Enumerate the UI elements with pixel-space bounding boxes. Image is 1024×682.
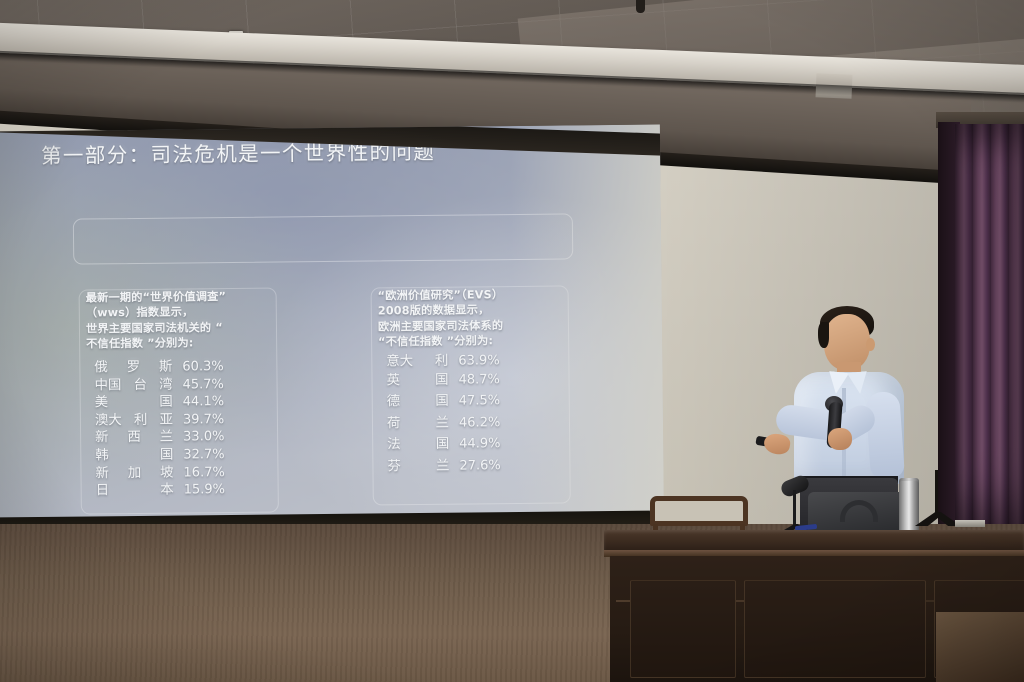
screen-right-falloff bbox=[510, 124, 664, 530]
desk-top-surface bbox=[604, 530, 1024, 552]
presenter-right-arm bbox=[865, 391, 905, 479]
value-label: 44.1% bbox=[173, 394, 224, 410]
chair-backrest bbox=[650, 496, 748, 526]
stage-curtain bbox=[955, 124, 1024, 546]
slide-title-box bbox=[73, 213, 573, 264]
value-label: 46.2% bbox=[449, 415, 500, 431]
presenter-left-hand bbox=[762, 432, 791, 456]
value-label: 63.9% bbox=[448, 353, 499, 369]
value-label: 48.7% bbox=[448, 372, 499, 388]
value-label: 60.3% bbox=[172, 359, 223, 375]
value-label: 27.6% bbox=[449, 458, 500, 474]
ceiling-clip-icon bbox=[636, 0, 645, 13]
country-label: 德国 bbox=[387, 389, 449, 410]
lecture-hall-scene: 第一部分：司法危机是一个世界性的问题 最新一期的“世界价值调查” （wws）指数… bbox=[0, 0, 1024, 682]
country-label: 意大利 bbox=[386, 349, 448, 370]
microphone-stem bbox=[793, 490, 796, 526]
microphone-stem bbox=[935, 470, 938, 518]
screen-left-falloff bbox=[0, 131, 82, 536]
left-column-rows: 俄罗斯 60.3% 中国台湾 45.7% 美国 44.1% 澳大利亚 39.7%… bbox=[94, 353, 280, 496]
desk-panel bbox=[744, 580, 926, 678]
value-label: 39.7% bbox=[173, 412, 224, 428]
country-label: 荷兰 bbox=[387, 410, 449, 431]
country-label: 日本 bbox=[96, 478, 174, 499]
value-label: 45.7% bbox=[172, 377, 223, 393]
presenter-right-hand bbox=[828, 428, 852, 450]
value-label: 32.7% bbox=[173, 447, 224, 463]
value-label: 47.5% bbox=[449, 394, 500, 410]
country-label: 法国 bbox=[387, 432, 449, 453]
value-label: 33.0% bbox=[173, 429, 224, 445]
value-label: 44.9% bbox=[449, 436, 500, 452]
country-label: 英国 bbox=[386, 368, 448, 389]
value-label: 15.9% bbox=[174, 482, 225, 498]
country-label: 芬兰 bbox=[387, 453, 449, 474]
presenter-ear bbox=[866, 338, 875, 351]
desk-small-item bbox=[955, 520, 985, 527]
table-row: 俄罗斯 60.3% bbox=[94, 353, 279, 373]
left-column-heading: 最新一期的“世界价值调查” （wws）指数显示， 世界主要国家司法机关的 “ 不… bbox=[86, 288, 317, 352]
side-table bbox=[936, 612, 1024, 682]
presenter-hair-side bbox=[818, 322, 829, 348]
desk-panel bbox=[630, 580, 736, 678]
value-label: 16.7% bbox=[173, 465, 224, 481]
projection-screen: 第一部分：司法危机是一个世界性的问题 最新一期的“世界价值调查” （wws）指数… bbox=[0, 124, 664, 535]
